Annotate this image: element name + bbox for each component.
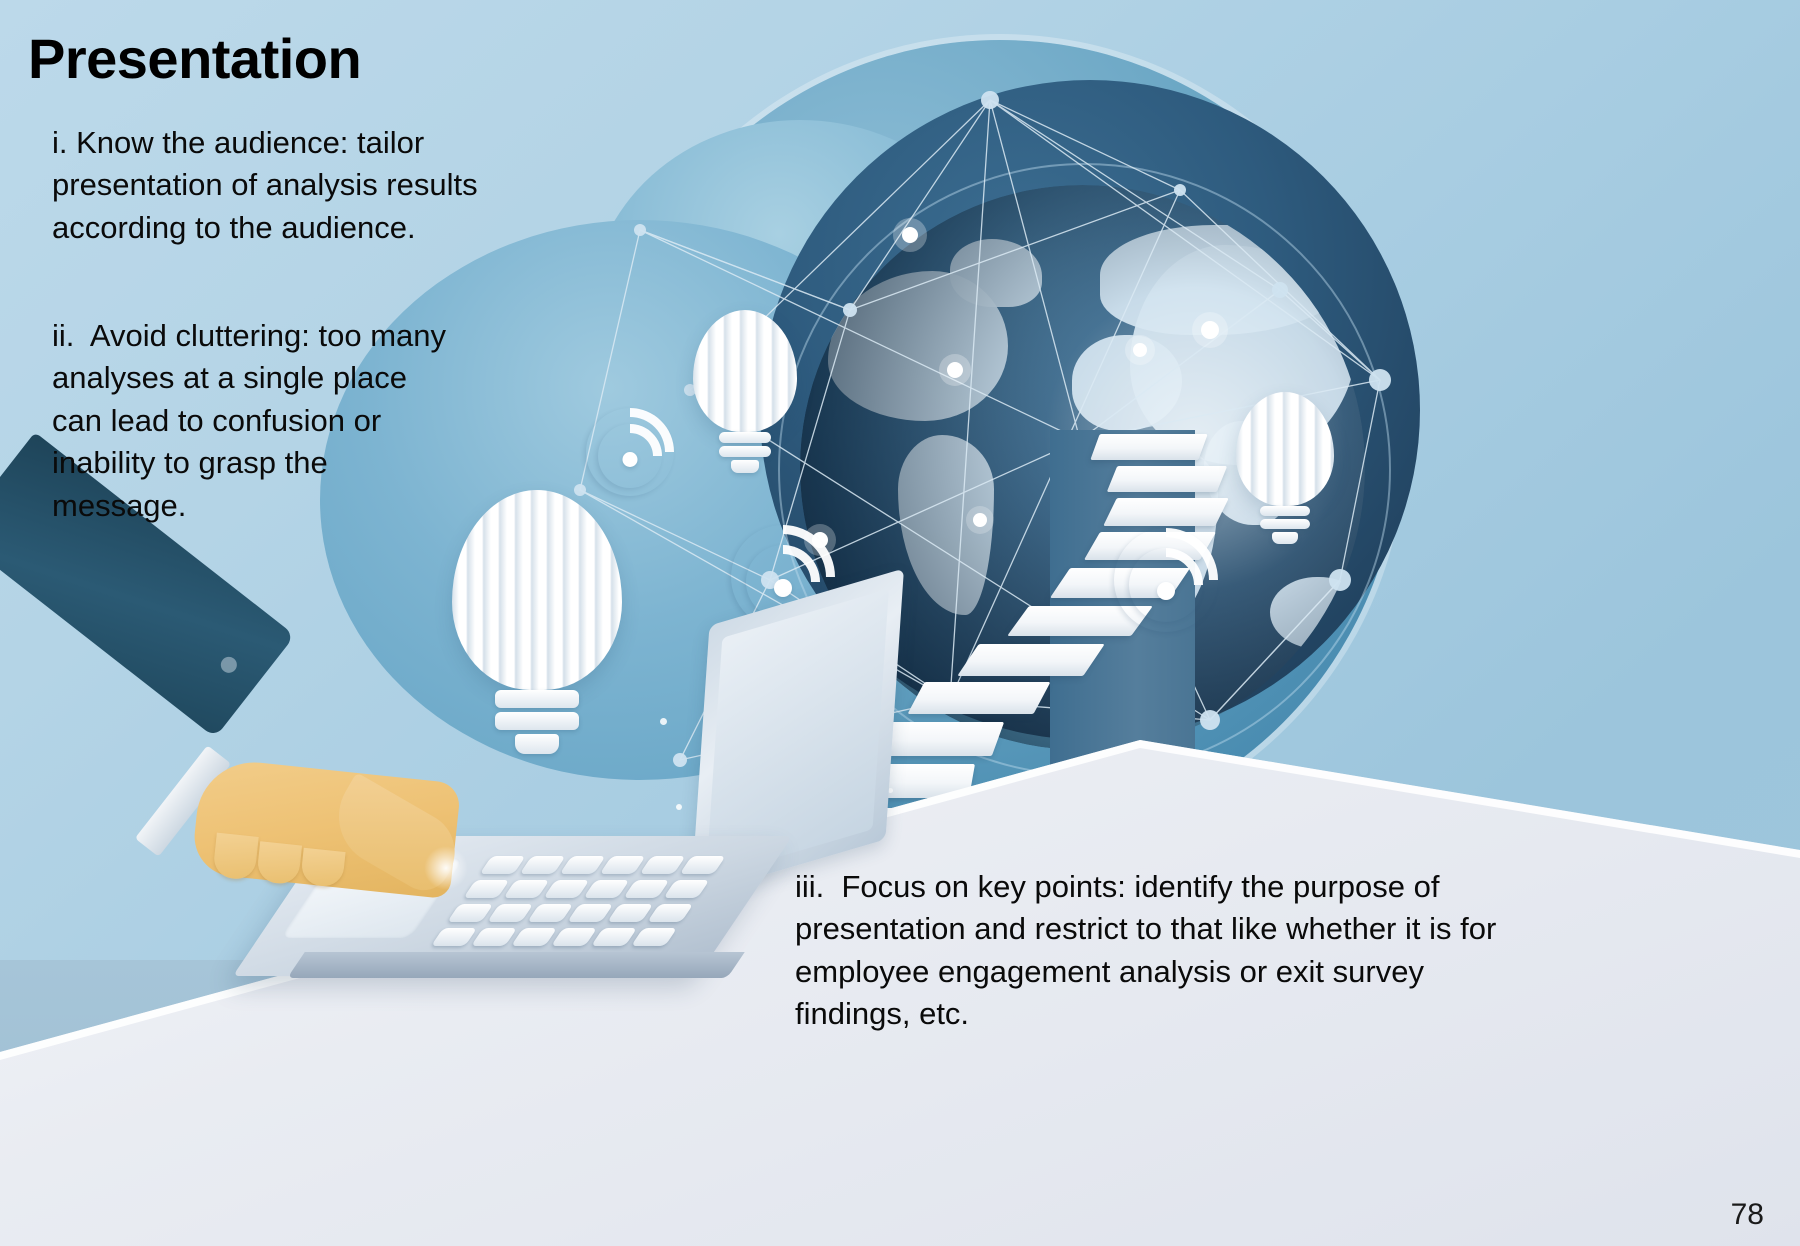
- fingertip-glow: [424, 846, 468, 890]
- continent-south-america: [898, 435, 994, 615]
- laptop-screen: [706, 589, 889, 878]
- page-title: Presentation: [28, 26, 361, 91]
- bullet-paragraph-ii: ii. Avoid cluttering: too many analyses …: [52, 315, 452, 527]
- laptop-keyboard: [421, 854, 759, 958]
- laptop-base-edge: [287, 952, 745, 978]
- shirt-cuff: [135, 745, 231, 856]
- continent-russia: [1100, 225, 1350, 335]
- wifi-icon-left: [590, 408, 670, 470]
- sleeve-button: [218, 654, 240, 676]
- bullet-paragraph-i: i. Know the audience: tailor presentatio…: [52, 122, 532, 249]
- presentation-slide: Presentation i. Know the audience: tailo…: [0, 0, 1800, 1246]
- wifi-icon-center: [735, 525, 831, 597]
- laptop-base: [233, 836, 792, 976]
- continent-greenland: [950, 239, 1042, 307]
- continent-north-america: [828, 271, 1008, 421]
- bullet-paragraph-iii: iii. Focus on key points: identify the p…: [795, 866, 1525, 1036]
- spiral-staircase: [760, 430, 1230, 900]
- staircase-column: [1050, 430, 1195, 880]
- light-bulb-top: [693, 310, 797, 475]
- wifi-icon-right: [1118, 528, 1214, 600]
- light-bulb-large: [452, 490, 622, 755]
- laptop-trackpad: [280, 858, 464, 938]
- continent-europe: [1072, 335, 1182, 431]
- light-bulb-right: [1236, 392, 1334, 547]
- continent-australia: [1270, 577, 1365, 649]
- page-number: 78: [1731, 1198, 1764, 1232]
- index-finger: [321, 772, 470, 899]
- hand: [191, 757, 462, 900]
